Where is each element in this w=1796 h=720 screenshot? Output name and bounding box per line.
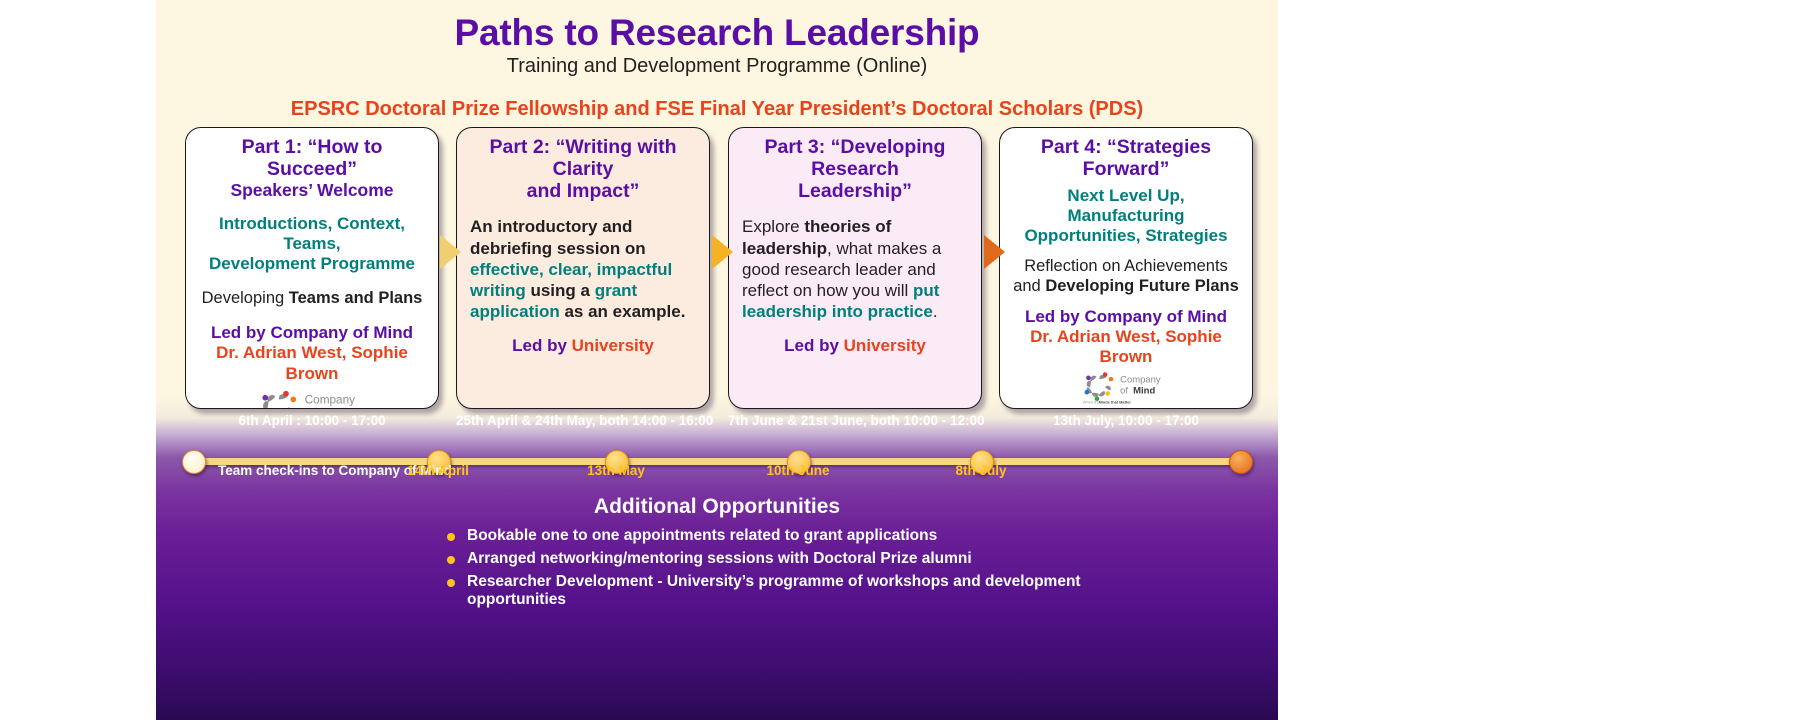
card-1-people: Dr. Adrian West, Sophie Brown xyxy=(199,343,425,384)
card-2-seg-1: An introductory and debriefing session o… xyxy=(470,217,646,257)
checkin-date-1: 14th April xyxy=(383,463,493,478)
card-4-followed: Followed by Careers Campfire xyxy=(1013,408,1239,409)
logo-tagline-bold: Minds that Matter xyxy=(1099,399,1132,404)
card-1-heading: Part 1: “How to Succeed” xyxy=(199,137,425,181)
card-3-seg-5: . xyxy=(933,302,938,321)
card-4-body-line-2: and Developing Future Plans xyxy=(1013,276,1239,296)
card-1-body-plain: Developing xyxy=(202,289,289,307)
list-item: Researcher Development - University’s pr… xyxy=(447,573,1087,609)
card-4-body-line-2-bold: Developing Future Plans xyxy=(1045,277,1238,295)
programme-parts-row: Part 1: “How to Succeed” Speakers’ Welco… xyxy=(156,127,1278,412)
poster-panel: Paths to Research Leadership Training an… xyxy=(156,0,1278,720)
card-part-3[interactable]: Part 3: “Developing Research Leadership”… xyxy=(728,127,982,409)
card-2-seg-3: using a xyxy=(530,281,594,300)
card-1-body-bold: Teams and Plans xyxy=(289,289,423,307)
card-2-heading-line-2: and Impact” xyxy=(470,181,696,203)
card-2-led-by: Led by University xyxy=(470,336,696,356)
card-3-seg-1: Explore xyxy=(742,217,804,236)
checkin-date-2: 13th May xyxy=(561,463,671,478)
date-label-part-4: 13th July, 10:00 - 17:00 xyxy=(999,413,1253,428)
card-2-led-prefix: Led by xyxy=(512,336,572,355)
card-1-teal-line-2: Development Programme xyxy=(199,254,425,274)
audience-line: EPSRC Doctoral Prize Fellowship and FSE … xyxy=(156,98,1278,121)
company-of-mind-logo: Company of Mind When it’s Minds that Mat… xyxy=(251,388,373,409)
card-4-teal-line-2: Opportunities, Strategies xyxy=(1013,226,1239,246)
card-1-body: Developing Teams and Plans xyxy=(199,288,425,308)
list-item-text: Arranged networking/mentoring sessions w… xyxy=(467,550,972,567)
card-2-body: An introductory and debriefing session o… xyxy=(470,216,696,321)
arrow-right-icon-2 xyxy=(712,235,733,269)
additional-opportunities-heading: Additional Opportunities xyxy=(156,495,1278,519)
card-3-heading-line-1: Part 3: “Developing Research xyxy=(742,137,968,181)
card-4-body-line-1: Reflection on Achievements xyxy=(1013,256,1239,276)
card-3-body: Explore theories of leadership, what mak… xyxy=(742,216,968,321)
card-4-people: Dr. Adrian West, Sophie Brown xyxy=(1013,327,1239,368)
list-item: Bookable one to one appointments related… xyxy=(447,527,1087,545)
team-checkins-row: Team check-ins to Company of Mind: 14th … xyxy=(156,463,1278,485)
page-subtitle: Training and Development Programme (Onli… xyxy=(156,55,1278,78)
arrow-right-icon-1 xyxy=(440,235,461,269)
additional-opportunities-section: Additional Opportunities Bookable one to… xyxy=(156,495,1278,614)
card-2-led-org: University xyxy=(572,336,654,355)
page-title: Paths to Research Leadership xyxy=(156,0,1278,53)
bullet-icon xyxy=(447,579,455,587)
bullet-icon xyxy=(447,556,455,564)
list-item-text: Bookable one to one appointments related… xyxy=(467,527,937,544)
list-item: Arranged networking/mentoring sessions w… xyxy=(447,550,1087,568)
card-1-teal-line-1: Introductions, Context, Teams, xyxy=(199,214,425,254)
card-4-body-line-2-plain: and xyxy=(1013,277,1045,295)
card-3-led-org: University xyxy=(844,336,926,355)
logo-name-line-1: Company xyxy=(1120,374,1161,385)
logo-name-line-2-light: of xyxy=(1120,385,1128,396)
checkin-date-3: 10th June xyxy=(743,463,853,478)
date-label-part-2: 25th April & 24th May, both 14:00 - 16:0… xyxy=(456,413,710,428)
checkin-date-4: 8th July xyxy=(926,463,1036,478)
session-dates-row: 6th April : 10:00 - 17:00 25th April & 2… xyxy=(156,413,1278,435)
logo-name-line-1: Company xyxy=(305,393,355,406)
logo-tagline-light: When it’s xyxy=(1083,399,1099,404)
card-3-led-by: Led by University xyxy=(742,336,968,356)
company-of-mind-logo: Company of Mind When it’s Minds that Mat… xyxy=(1077,370,1175,405)
logo-name-line-2-bold: Mind xyxy=(1133,385,1155,396)
card-part-1[interactable]: Part 1: “How to Succeed” Speakers’ Welco… xyxy=(185,127,439,409)
card-4-heading: Part 4: “Strategies Forward” xyxy=(1013,137,1239,181)
card-1-led-by: Led by Company of Mind xyxy=(199,323,425,343)
list-item-text: Researcher Development - University’s pr… xyxy=(467,573,1081,608)
arrow-right-icon-3 xyxy=(984,235,1005,269)
card-3-led-prefix: Led by xyxy=(784,336,844,355)
card-4-led-by: Led by Company of Mind xyxy=(1013,307,1239,327)
logo-name-line-2-bold: Mind xyxy=(321,407,348,409)
card-part-4[interactable]: Part 4: “Strategies Forward” Next Level … xyxy=(999,127,1253,409)
card-2-seg-5: as an example. xyxy=(564,302,685,321)
date-label-part-1: 6th April : 10:00 - 17:00 xyxy=(185,413,439,428)
card-3-heading-line-2: Leadership” xyxy=(742,181,968,203)
date-label-part-3: 7th June & 21st June, both 10:00 - 12:00 xyxy=(728,413,982,428)
additional-opportunities-list: Bookable one to one appointments related… xyxy=(156,527,1278,609)
logo-name-line-2-light: of xyxy=(305,407,316,409)
card-part-2[interactable]: Part 2: “Writing with Clarity and Impact… xyxy=(456,127,710,409)
card-4-teal-line-1: Next Level Up, Manufacturing xyxy=(1013,186,1239,226)
card-1-subheading: Speakers’ Welcome xyxy=(199,181,425,201)
poster-canvas: Paths to Research Leadership Training an… xyxy=(0,0,1796,720)
card-2-heading-line-1: Part 2: “Writing with Clarity xyxy=(470,137,696,181)
bullet-icon xyxy=(447,533,455,541)
